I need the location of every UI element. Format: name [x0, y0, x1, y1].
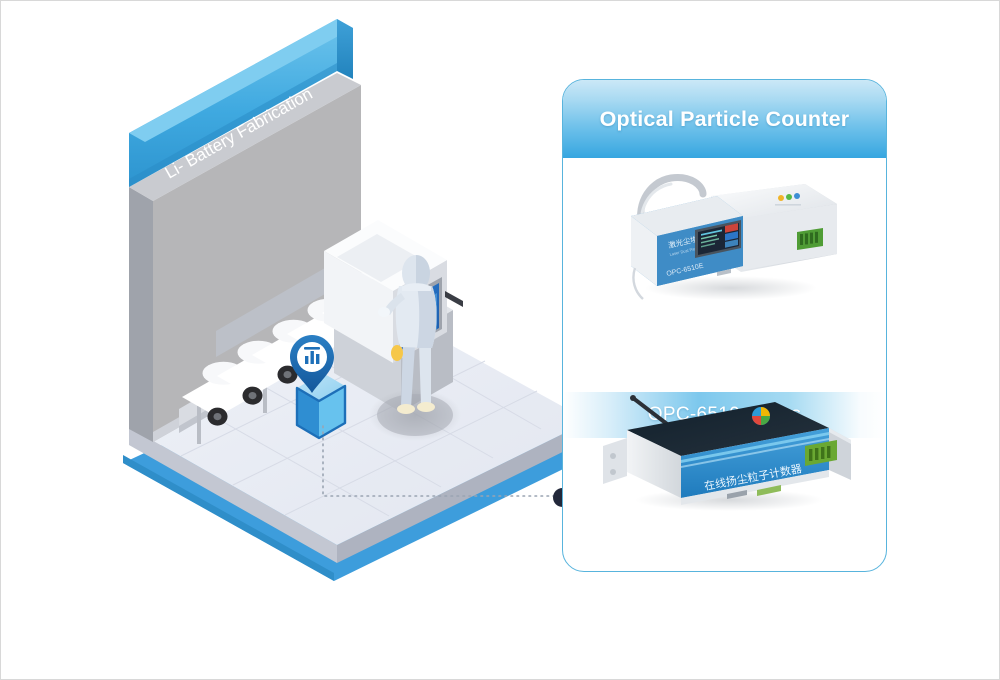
machine-handle [445, 291, 463, 307]
antenna-tip [630, 395, 636, 401]
callout-connector [301, 401, 581, 531]
conveyor-leg-2 [197, 406, 201, 444]
opc-6303-device-image[interactable]: 在线扬尘粒子计数器 Online Airborne Particle Count… [589, 380, 861, 515]
wall-panel-left [129, 187, 153, 442]
product-card: Optical Particle Counter [562, 79, 887, 572]
worker-hip-tag [391, 345, 403, 361]
mounting-bracket [603, 438, 627, 484]
connector-dotted-line [323, 426, 573, 496]
worker-leg-front [419, 343, 431, 405]
opc-6510-device-image[interactable]: 激光尘埃粒子计数器 Laser Dust Particle Counter OP… [591, 168, 861, 303]
bracket-hole-bottom [610, 469, 616, 475]
worker-glove [378, 307, 390, 317]
bracket-hole-top [610, 453, 616, 459]
isometric-factory-scene: Li- Battery Fabrication [1, 1, 621, 641]
card-title: Optical Particle Counter [563, 107, 886, 132]
worker-torso-shade [417, 286, 437, 348]
card-header: Optical Particle Counter [563, 80, 886, 158]
screenshot-canvas: Li- Battery Fabrication [0, 0, 1000, 680]
brand-logo [752, 407, 770, 425]
antenna [633, 398, 667, 424]
banner-side [337, 19, 353, 79]
